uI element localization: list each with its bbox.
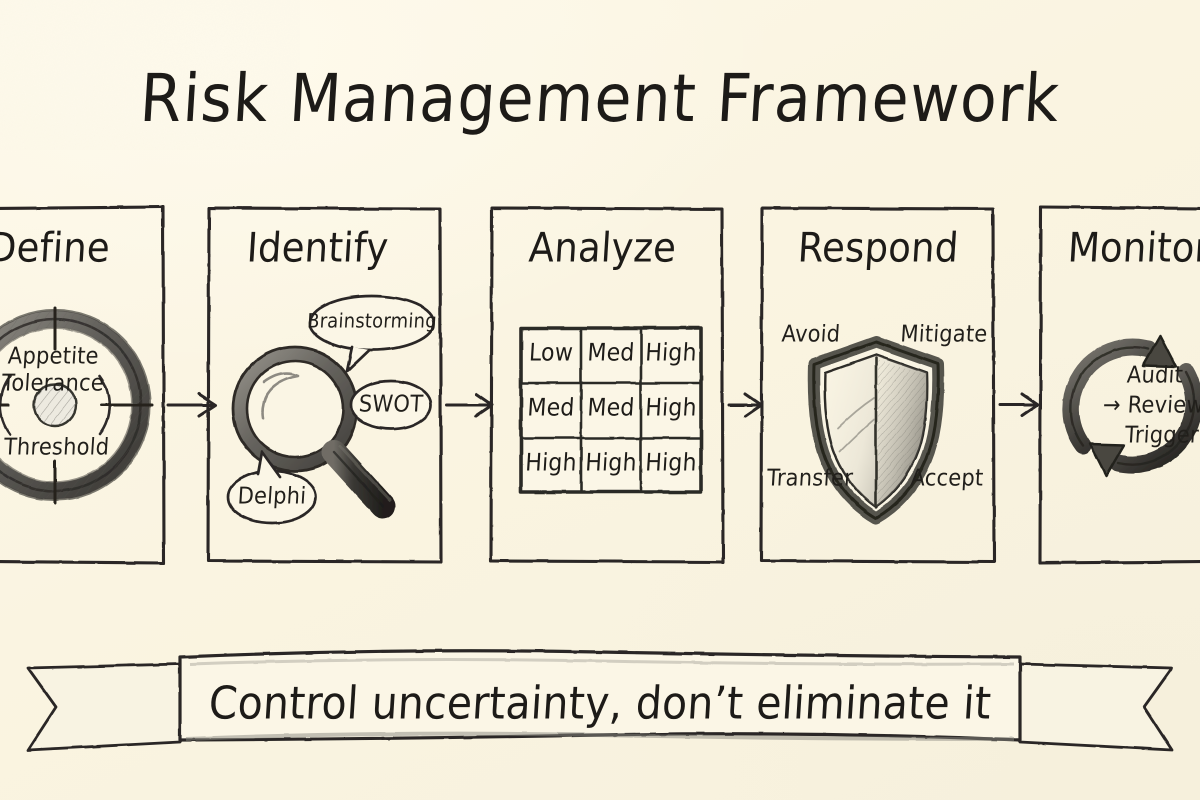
respond-label-accept: Accept (910, 465, 984, 491)
monitor-label-trigger: Trigger (1124, 422, 1199, 448)
panel-title-analyze: Analyze (528, 224, 678, 271)
matrix-cell: High (644, 340, 697, 368)
banner-text: Control uncertainty, don’t eliminate it (207, 677, 992, 730)
shield-icon (814, 342, 939, 518)
matrix-cell: High (584, 450, 637, 478)
identify-label-brainstorming: Brainstorming (306, 310, 437, 333)
panel-title-define: Define (0, 224, 111, 271)
respond-label-transfer: Transfer (766, 465, 854, 491)
matrix-cell: Med (527, 395, 576, 423)
identify-label-delphi: Delphi (237, 483, 307, 509)
monitor-label-review: → Review (1102, 392, 1200, 418)
define-label-threshold: Threshold (3, 434, 110, 460)
matrix-cell: Med (587, 340, 636, 368)
define-label-appetite: Appetite (7, 343, 99, 369)
panel-title-identify: Identify (246, 224, 390, 271)
matrix-cell: High (644, 395, 697, 423)
identify-label-swot: SWOT (358, 391, 424, 417)
matrix-cell: High (644, 450, 697, 478)
matrix-cell: High (524, 450, 577, 478)
bullseye-target-icon (0, 308, 152, 503)
respond-label-mitigate: Mitigate (900, 321, 989, 347)
diagram-canvas: Risk Management Framework Define Identif… (0, 0, 1200, 800)
page-title: Risk Management Framework (138, 61, 1063, 138)
monitor-label-audit: Audit (1126, 362, 1184, 388)
respond-label-avoid: Avoid (781, 321, 841, 347)
panel-title-respond: Respond (797, 224, 960, 271)
define-label-tolerance: Tolerance (1, 370, 105, 396)
matrix-cell: Med (587, 395, 636, 423)
panel-title-monitor: Monitor (1067, 224, 1200, 271)
matrix-cell: Low (528, 340, 574, 368)
